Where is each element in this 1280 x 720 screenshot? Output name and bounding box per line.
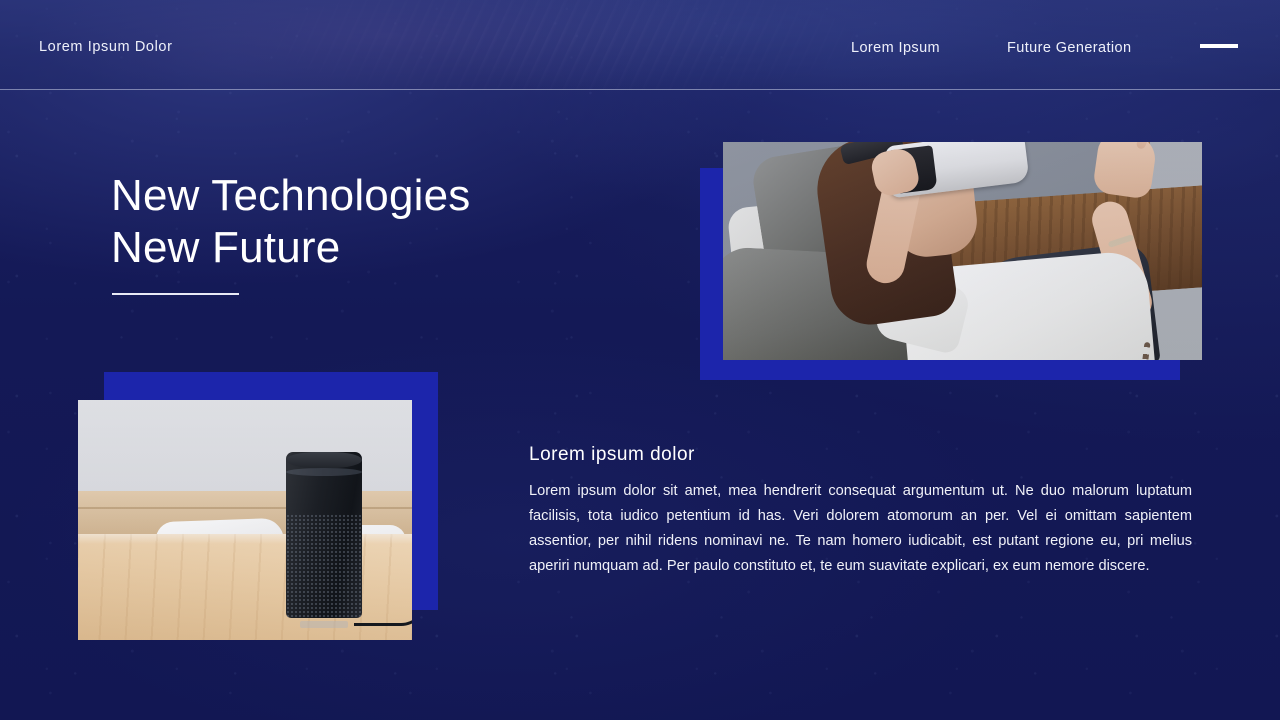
menu-bar-icon[interactable] bbox=[1200, 44, 1238, 48]
slide-canvas: Lorem Ipsum Dolor Lorem Ipsum Future Gen… bbox=[0, 0, 1280, 720]
brand-logo-text[interactable]: Lorem Ipsum Dolor bbox=[39, 39, 173, 55]
speaker-photo bbox=[78, 400, 412, 640]
vr-photo bbox=[723, 142, 1202, 360]
section-paragraph: Lorem ipsum dolor sit amet, mea hendreri… bbox=[529, 479, 1192, 579]
page-title: New Technologies New Future bbox=[111, 170, 471, 274]
nav-item-future-generation[interactable]: Future Generation bbox=[1007, 40, 1131, 56]
site-header: Lorem Ipsum Dolor Lorem Ipsum Future Gen… bbox=[0, 0, 1280, 90]
speaker-photo-tint bbox=[78, 400, 412, 640]
vr-photo-tint bbox=[723, 142, 1202, 360]
nav-item-lorem-ipsum[interactable]: Lorem Ipsum bbox=[851, 40, 940, 56]
header-divider bbox=[0, 89, 1280, 90]
section-heading: Lorem ipsum dolor bbox=[529, 444, 695, 466]
title-underline-rule bbox=[112, 293, 239, 295]
